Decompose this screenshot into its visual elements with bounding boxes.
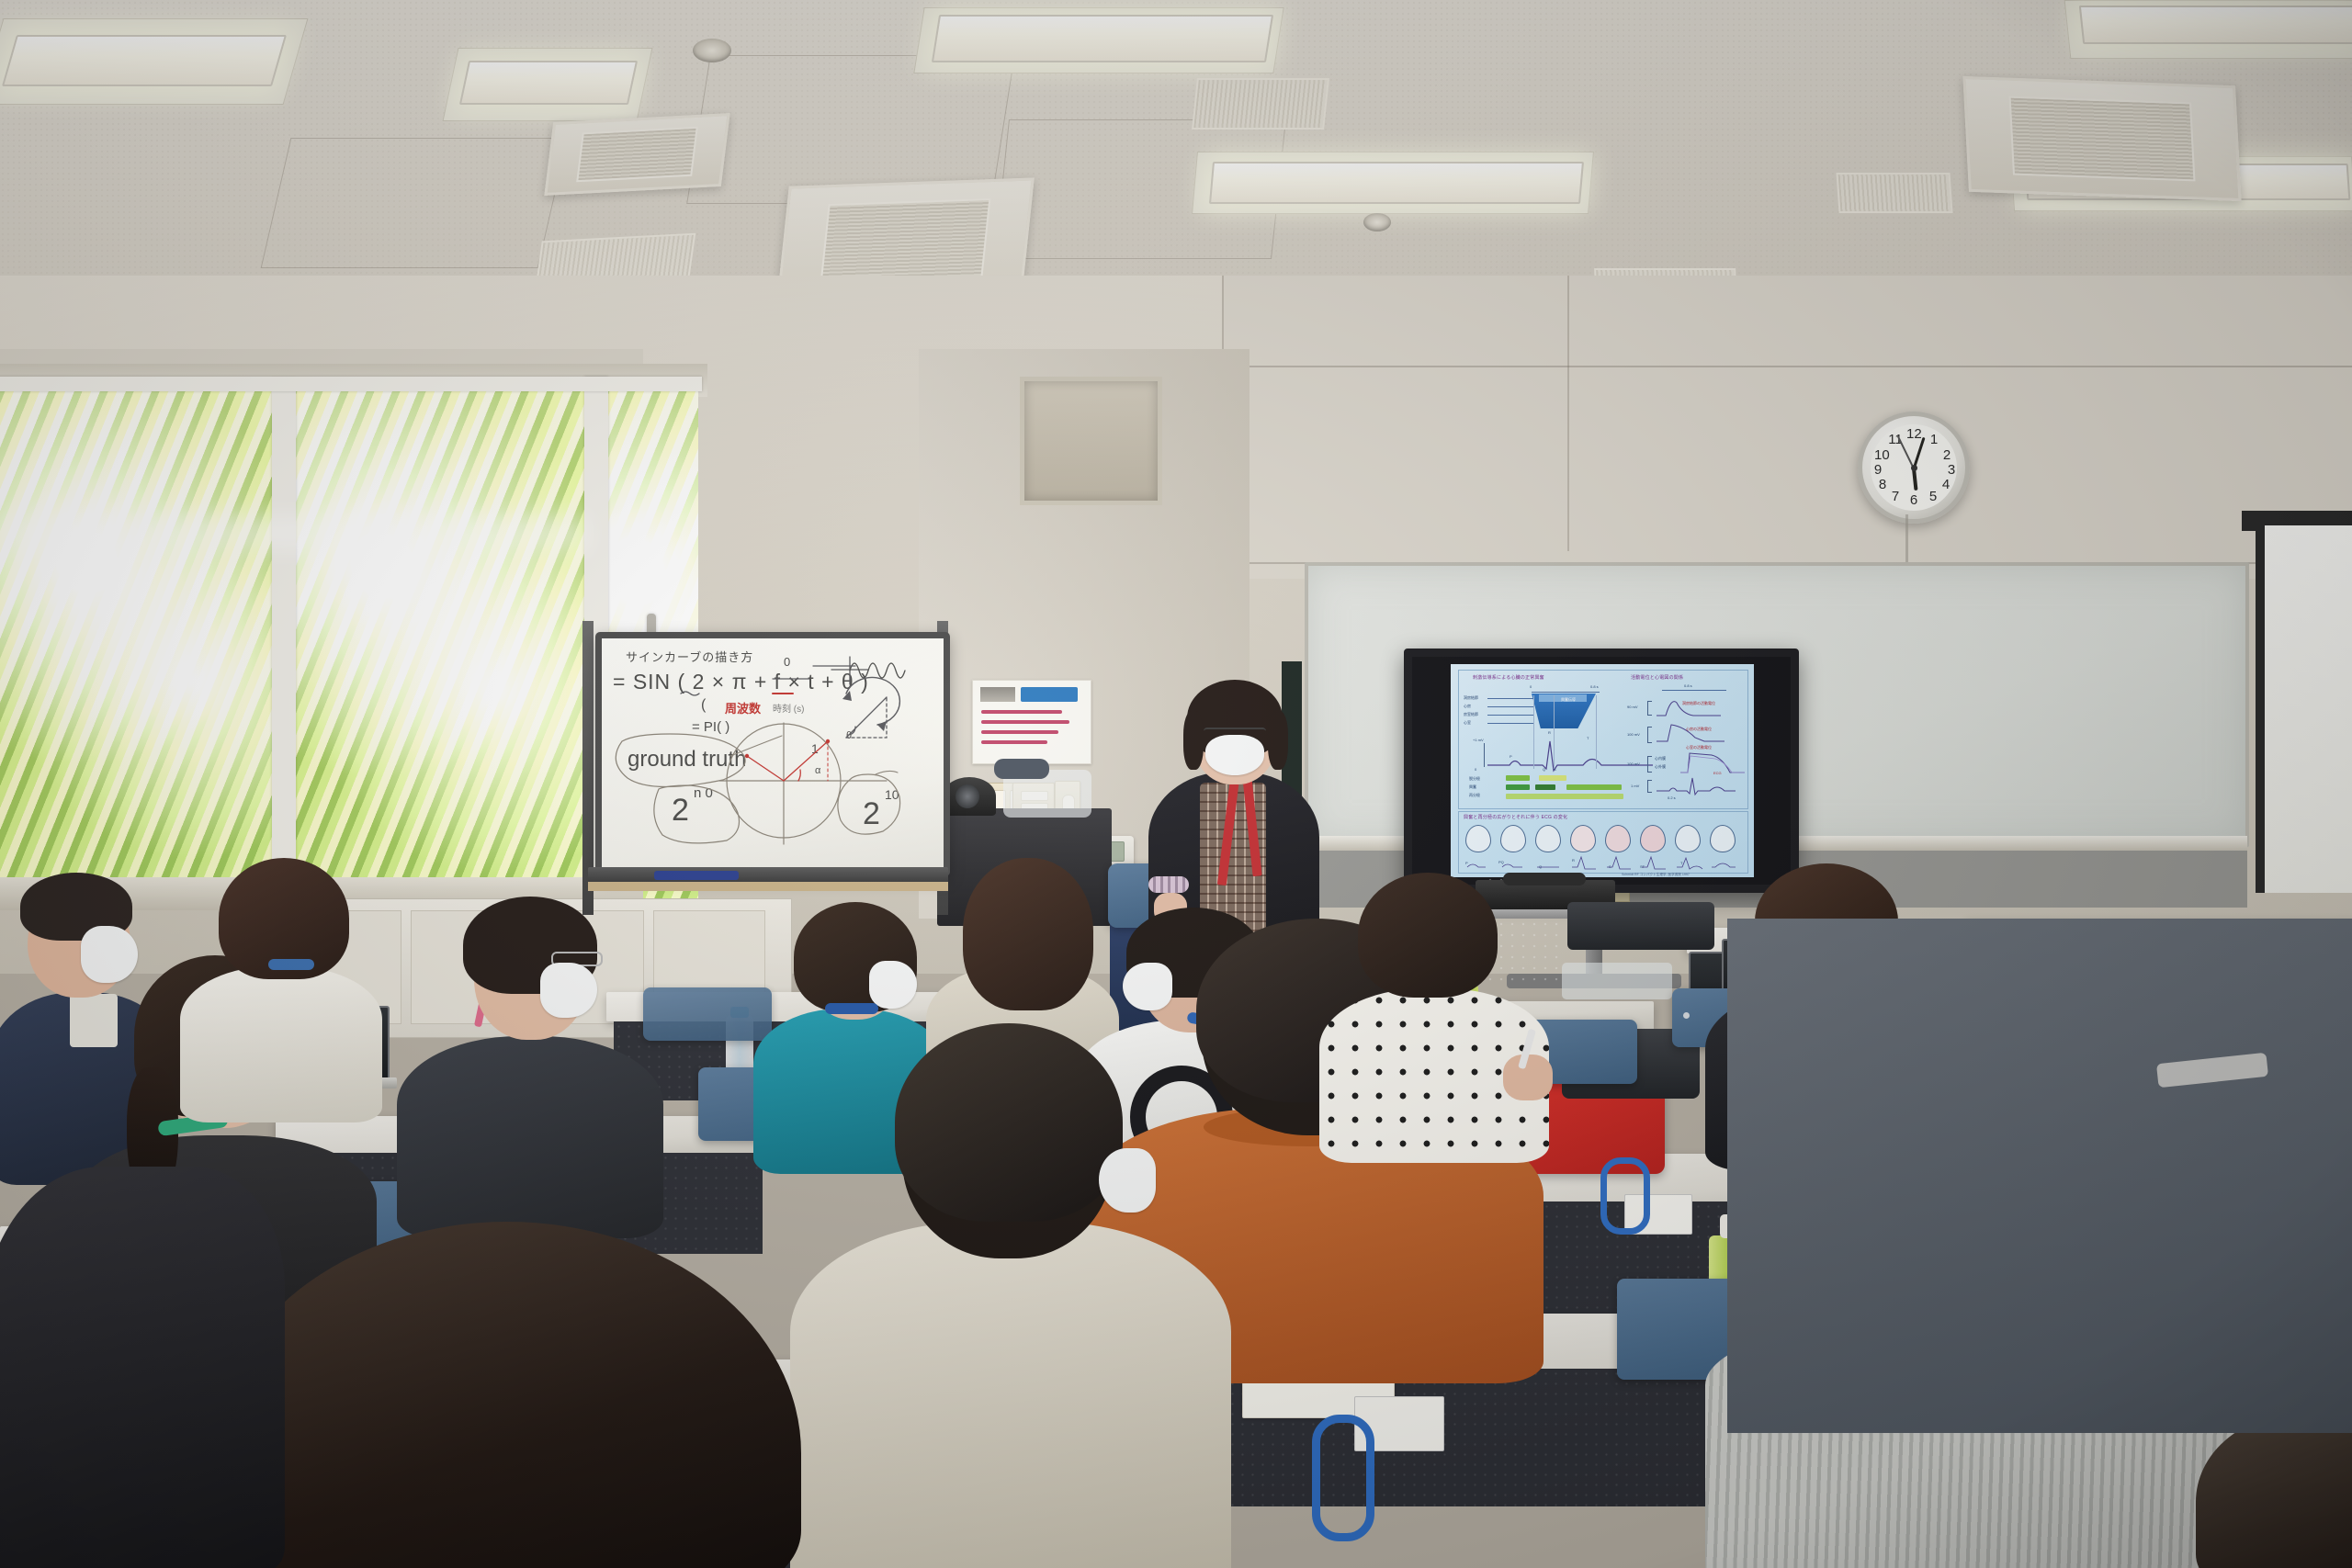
wall-seam xyxy=(1222,366,2352,367)
ceiling-ac-unit xyxy=(1962,76,2241,201)
suit-jacket xyxy=(397,1036,663,1238)
face-mask xyxy=(1205,735,1264,775)
clock-face: 12 1 2 3 4 5 6 7 8 9 10 11 xyxy=(1871,424,1957,511)
cream-shirt xyxy=(790,1222,1231,1568)
slide-left-label: 房室結節 xyxy=(1464,712,1478,717)
smoke-detector-icon xyxy=(1363,213,1391,231)
ceiling-light xyxy=(459,61,638,105)
window-wall xyxy=(0,384,698,898)
presenter-hair xyxy=(1268,711,1288,770)
lanyard xyxy=(268,959,314,970)
slide-left-label: 心室 xyxy=(1464,720,1471,726)
clock-hour-hand xyxy=(1912,468,1917,491)
ceiling-light xyxy=(1209,162,1584,204)
slide-scale-label: 100 mV xyxy=(1627,761,1640,766)
slide-sub-label: 心内膜 xyxy=(1655,756,1666,761)
slide-bottom-traces xyxy=(1464,852,1739,871)
clock-numeral: 1 xyxy=(1927,433,1941,447)
smoke-detector-icon xyxy=(693,39,731,62)
slide-ecg-small xyxy=(1657,774,1736,796)
clock-numeral: 12 xyxy=(1906,427,1921,442)
slide-wave-letter: R xyxy=(1548,730,1551,735)
clock-numeral: 7 xyxy=(1888,490,1903,504)
presentation-slide: 刺激伝導系による心臓の正常興奮 活動電位と心電図の関係 0 0.8 s 洞房結節… xyxy=(1451,664,1754,877)
poster-tag xyxy=(1021,687,1078,702)
slide-row-label: 脱分極 xyxy=(1469,776,1480,782)
bracelet xyxy=(1148,876,1189,893)
attendee-polkadot-blouse xyxy=(1319,882,1549,1139)
whiteboard-pen-tray xyxy=(588,867,948,882)
plastic-bag xyxy=(1562,963,1672,999)
slide-heading-left: 刺激伝導系による心臓の正常興奮 xyxy=(1473,674,1544,681)
lanyard xyxy=(825,1003,878,1014)
projection-screen xyxy=(2256,525,2352,893)
window-frame-top xyxy=(0,377,702,391)
slide-ecg-trace xyxy=(1487,734,1653,774)
wall-notice-poster xyxy=(972,680,1091,764)
slide-bottom-heading: 興奮と再分極の広がりとそれに伴う ECG の変化 xyxy=(1464,814,1567,820)
slide-ap-ventricular xyxy=(1680,750,1745,774)
clock-center-pin xyxy=(1911,465,1917,471)
slide-wave-letter: T xyxy=(1587,736,1589,740)
presenter-hair xyxy=(1183,711,1204,770)
wb-diagram-strokes xyxy=(602,638,944,870)
floor-right xyxy=(1727,919,2352,1433)
window-pane xyxy=(0,384,276,880)
cable-bundle xyxy=(994,759,1049,779)
attendee-white-shirt xyxy=(180,863,382,1102)
ceiling-light xyxy=(932,15,1273,62)
face-mask xyxy=(540,963,597,1018)
attendee-far-right-head xyxy=(2196,1415,2352,1568)
window-glare xyxy=(0,514,588,551)
hair xyxy=(213,1222,801,1568)
wall-seam xyxy=(1567,276,1569,551)
face-mask xyxy=(869,961,917,1009)
slide-right-label: 心室の活動電位 xyxy=(1686,745,1712,750)
poster-image xyxy=(980,687,1015,702)
clock-numeral: 3 xyxy=(1944,463,1959,478)
poster-text-line xyxy=(981,740,1047,744)
slide-scale-top: 0.8 s xyxy=(1684,683,1692,688)
marker-pen[interactable] xyxy=(654,871,739,880)
poster-text-line xyxy=(981,720,1069,724)
slide-mv-label: +1 mV xyxy=(1473,738,1484,742)
clock-numeral: 9 xyxy=(1871,463,1885,478)
lanyard xyxy=(1312,1415,1374,1541)
ac-grill xyxy=(576,127,698,182)
mobile-whiteboard[interactable]: サインカーブの描き方 = SIN ( 2 × π + f × t + θ ) 0… xyxy=(595,632,950,876)
slide-mv-zero: 0 xyxy=(1475,767,1476,772)
slide-right-label: 心房の活動電位 xyxy=(1686,727,1712,732)
slide-wave-letter: Q xyxy=(1543,767,1545,772)
slide-ecg-label: ECG xyxy=(1713,771,1722,775)
slide-right-label: 洞房結節の活動電位 xyxy=(1682,701,1715,706)
ac-grill xyxy=(2009,96,2195,181)
slide-axis-zero: 0 xyxy=(1530,684,1532,689)
window-pane xyxy=(292,384,584,895)
clock-numeral: 8 xyxy=(1875,478,1890,492)
clock-numeral: 6 xyxy=(1906,493,1921,508)
slide-left-label: 心房 xyxy=(1464,704,1471,709)
clock-numeral: 2 xyxy=(1939,448,1954,463)
slide-scale-label: 90 mV xyxy=(1627,705,1638,709)
poster-text-line xyxy=(981,710,1062,714)
hair xyxy=(1358,873,1498,998)
ceiling-light xyxy=(2079,6,2352,44)
slide-time-axis-label: 0.8 s xyxy=(1590,684,1599,689)
slide-axis-unit: 0.2 s xyxy=(1668,795,1676,800)
clock-numeral: 4 xyxy=(1939,478,1953,492)
slide-scale-label: 100 mV xyxy=(1627,732,1640,737)
slide-box-label: 興奮伝導 xyxy=(1561,697,1576,703)
hand xyxy=(1503,1055,1553,1100)
slide-heading-right: 活動電位と心電図の関係 xyxy=(1631,674,1683,681)
slide-scale-label: 1 mV xyxy=(1631,784,1639,788)
slide-left-label: 洞房結節 xyxy=(1464,695,1478,701)
hair xyxy=(2196,1415,2352,1568)
blouse xyxy=(180,966,382,1122)
attendee-cream-shirt xyxy=(790,1038,1231,1568)
ceiling-ac-unit xyxy=(544,113,729,196)
slide-row-label: 興奮 xyxy=(1469,784,1476,790)
clock-numeral: 5 xyxy=(1926,490,1940,504)
attendee-far-left-arm xyxy=(0,1167,285,1568)
classroom-photo: 12 1 2 3 4 5 6 7 8 9 10 11 サ xyxy=(0,0,2352,1568)
slide-sub-label: 心外膜 xyxy=(1655,764,1666,770)
display-monitor: 刺激伝導系による心臓の正常興奮 活動電位と心電図の関係 0 0.8 s 洞房結節… xyxy=(1404,649,1799,893)
slide-source-note: Schmidt RF コンパクト生理学, 医学書院 1997 xyxy=(1622,873,1690,877)
equipment-bag xyxy=(1567,902,1714,950)
wall-access-panel xyxy=(1020,377,1162,505)
upper-wall-band xyxy=(1222,276,2352,579)
ceiling-vent xyxy=(1836,173,1952,213)
ceiling-vent xyxy=(1192,78,1329,130)
ceiling-light xyxy=(2,35,287,86)
slide-ap-atrial xyxy=(1657,721,1724,743)
lanyard xyxy=(1600,1157,1650,1235)
attendee-grey-suit-mid xyxy=(397,900,663,1213)
slide-wave-letter: P xyxy=(1510,754,1512,759)
ceiling-tile xyxy=(261,138,569,268)
slide-row-label: 再分極 xyxy=(1469,793,1480,798)
sleeve xyxy=(0,1167,285,1568)
face-mask xyxy=(1099,1148,1156,1213)
speaker-cone xyxy=(955,784,979,808)
wall-clock: 12 1 2 3 4 5 6 7 8 9 10 11 xyxy=(1858,412,1970,524)
hair xyxy=(895,1023,1123,1222)
attendee-dark-hair-fg xyxy=(213,1222,801,1568)
whiteboard-tray-wood xyxy=(588,882,948,891)
window-mullion xyxy=(272,378,296,889)
poster-text-line xyxy=(981,730,1058,734)
clock-numeral: 10 xyxy=(1874,448,1889,463)
